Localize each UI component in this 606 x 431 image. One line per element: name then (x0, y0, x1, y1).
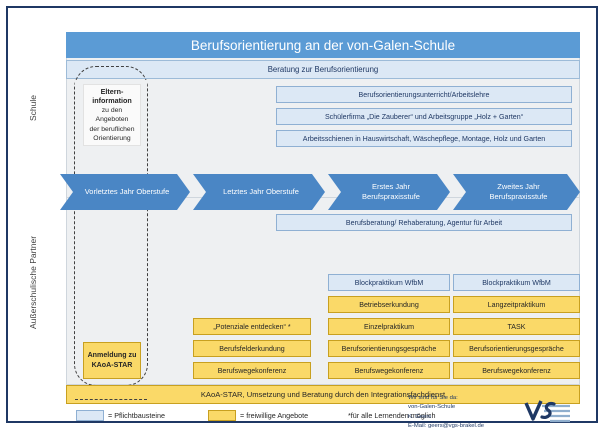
berufsberatung-bar: Berufsberatung/ Rehaberatung, Agentur fü… (276, 214, 572, 231)
module-box: Berufsfelderkundung (193, 340, 311, 357)
module-box: Langzeitpraktikum (453, 296, 580, 313)
dashed-outline-bottom-segment (75, 390, 147, 400)
phase-chevron-3-label-line2: Berufspraxisstufe (362, 192, 420, 202)
contact-line-2: von-Galen-Schule (408, 403, 520, 412)
legend-label-yellow: = freiwillige Angebote (240, 411, 308, 420)
legend-swatch-yellow (208, 410, 236, 421)
contact-line-4: E-Mail: geers@vgs-brakel.de (408, 422, 520, 431)
axis-label-ausserschulische-partner: Außerschulische Partner (28, 182, 42, 382)
diagram-title: Berufsorientierung an der von-Galen-Schu… (66, 32, 580, 58)
module-box: Berufswegekonferenz (328, 362, 450, 379)
contact-line-3: K. Geers (408, 413, 520, 422)
elterninformation-heading-line1: Eltern- (101, 87, 124, 97)
phase-chevron-zweites-jahr: Zweites Jahr Berufspraxisstufe (453, 174, 580, 210)
phase-chevron-1-label: Vorletztes Jahr Oberstufe (85, 187, 170, 197)
phase-chevron-vorletztes-jahr: Vorletztes Jahr Oberstufe (60, 174, 190, 210)
module-box: Blockpraktikum WfbM (328, 274, 450, 291)
school-box-berufsorientierungsunterricht: Berufsorientierungsunterricht/Arbeitsleh… (276, 86, 572, 103)
module-box: Betriebserkundung (328, 296, 450, 313)
anmeldung-kaoa-star-box: Anmeldung zu KAoA-STAR (83, 342, 141, 379)
anmeldung-line2: KAoA-STAR (88, 361, 137, 371)
phase-chevron-letztes-jahr: Letztes Jahr Oberstufe (193, 174, 325, 210)
elterninformation-heading-line2: information (92, 96, 132, 106)
legend-item-freiwillige-angebote: = freiwillige Angebote (208, 410, 308, 421)
diagram-frame: Schule Außerschulische Partner Berufsori… (6, 6, 598, 423)
elterninformation-body-line2: der beruflichen (90, 125, 135, 134)
module-box: „Potenziale entdecken“ * (193, 318, 311, 335)
elterninformation-body-line1: zu den Angeboten (86, 106, 138, 125)
module-box: TASK (453, 318, 580, 335)
diagram-canvas: Schule Außerschulische Partner Berufsori… (28, 32, 580, 404)
module-box: Berufsorientierungsgespräche (328, 340, 450, 357)
legend-label-blue: = Pflichtbausteine (108, 411, 165, 420)
legend-swatch-blue (76, 410, 104, 421)
elterninformation-body-line3: Orientierung (93, 134, 130, 143)
phase-chevron-2-label: Letztes Jahr Oberstufe (223, 187, 299, 197)
module-box: Berufswegekonferenz (193, 362, 311, 379)
module-box: Berufsorientierungsgespräche (453, 340, 580, 357)
phase-chevron-erstes-jahr: Erstes Jahr Berufspraxisstufe (328, 174, 450, 210)
contact-line-1: Wir sind für Sie da: (408, 394, 520, 403)
legend-item-pflichtbausteine: = Pflichtbausteine (76, 410, 165, 421)
school-box-arbeitsschienen: Arbeitsschienen in Hauswirtschaft, Wäsch… (276, 130, 572, 147)
module-box: Einzelpraktikum (328, 318, 450, 335)
phase-chevron-4-label-line1: Zweites Jahr (490, 182, 548, 192)
beratung-bar: Beratung zur Berufsorientierung (66, 60, 580, 79)
module-box: Blockpraktikum WfbM (453, 274, 580, 291)
phase-chevron-4-label-line2: Berufspraxisstufe (490, 192, 548, 202)
axis-label-schule: Schule (28, 46, 42, 170)
elterninformation-box: Eltern- information zu den Angeboten der… (83, 84, 141, 146)
contact-block: Wir sind für Sie da: von-Galen-Schule K.… (408, 394, 520, 431)
school-box-schuelerfirma: Schülerfirma „Die Zauberer“ und Arbeitsg… (276, 108, 572, 125)
anmeldung-line1: Anmeldung zu (88, 351, 137, 361)
vgs-logo-icon (524, 397, 572, 427)
module-box: Berufswegekonferenz (453, 362, 580, 379)
phase-chevron-3-label-line1: Erstes Jahr (362, 182, 420, 192)
